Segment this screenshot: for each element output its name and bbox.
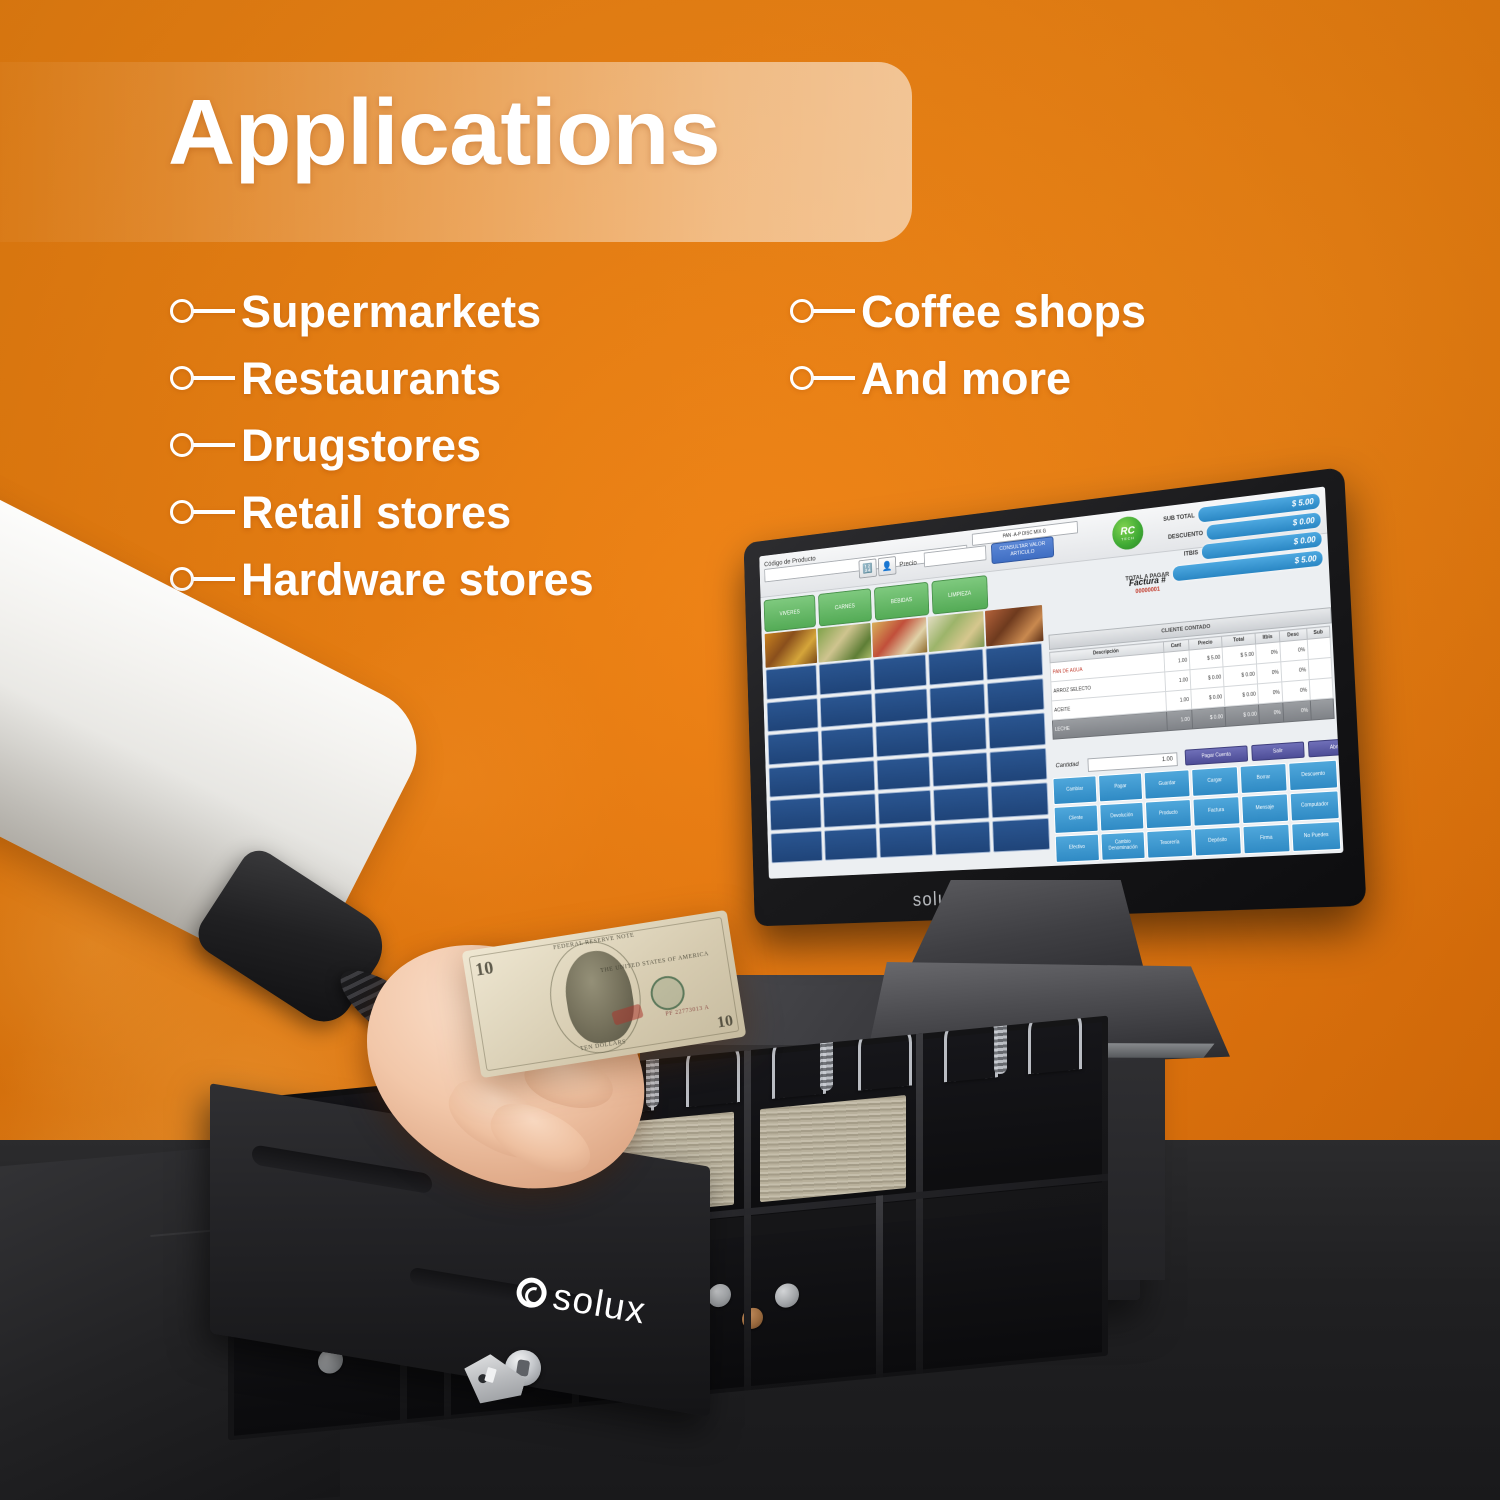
product-cell[interactable] (820, 693, 873, 728)
bullet-marker-icon (170, 299, 235, 323)
bullet-marker-icon (170, 366, 235, 390)
monitor-screen[interactable]: Código de Producto PAN -A-P DISC MIX G 🔢… (759, 486, 1343, 878)
cell-itbis: 0% (1257, 662, 1282, 684)
key-guardar[interactable]: Guardar (1144, 769, 1191, 799)
key-no-puedes[interactable]: No Puedes (1291, 821, 1341, 852)
product-cell[interactable] (929, 649, 985, 685)
product-cell[interactable] (930, 683, 986, 719)
tab-limpieza[interactable]: LIMPIEZA (931, 575, 988, 614)
page-title: Applications (168, 86, 720, 179)
product-cell[interactable] (875, 722, 929, 757)
product-cell[interactable] (992, 817, 1050, 852)
product-cell[interactable] (822, 760, 875, 794)
cell-desc: 0% (1280, 639, 1308, 662)
cell-total: $ 0.00 (1224, 684, 1259, 707)
calculator-icon[interactable]: 🔢 (859, 558, 877, 578)
product-cell[interactable] (766, 665, 817, 700)
key-cambiar[interactable]: Cambiar (1053, 775, 1098, 805)
bill-clip (1028, 1016, 1082, 1075)
cell-desc: 0% (1281, 659, 1309, 681)
key-computador[interactable]: Computador (1290, 790, 1340, 821)
bullet-marker-icon (170, 567, 235, 591)
list-item-label: Supermarkets (241, 289, 541, 334)
cell-cant: 1.00 (1164, 670, 1190, 692)
key-efectivo[interactable]: Efectivo (1055, 834, 1100, 863)
product-cell[interactable] (877, 790, 932, 824)
key-cargar[interactable]: Cargar (1191, 766, 1239, 797)
key-descuento[interactable]: Descuento (1288, 760, 1338, 791)
swirl-logo-icon (514, 1275, 549, 1310)
product-cell[interactable] (824, 827, 877, 861)
product-button-grid[interactable] (766, 643, 1050, 863)
key-deposito[interactable]: Depósito (1194, 826, 1242, 856)
product-cell[interactable] (990, 747, 1048, 783)
thumb-salads[interactable] (928, 611, 985, 652)
product-cell[interactable] (769, 764, 821, 798)
quantity-input[interactable]: 1.00 (1087, 752, 1177, 772)
thumb-produce[interactable] (765, 629, 817, 668)
list-item-label: Retail stores (241, 490, 511, 535)
bullet-marker-icon (170, 500, 235, 524)
coin-bin (882, 1203, 1102, 1374)
product-cell[interactable] (873, 654, 927, 690)
list-item: Supermarkets (170, 288, 594, 334)
product-cell[interactable] (821, 726, 874, 761)
product-cell[interactable] (876, 756, 931, 791)
cell-itbis: 0% (1258, 682, 1283, 704)
cell-precio: $ 0.00 (1192, 707, 1226, 729)
total-label: TOTAL A PAGAR (1125, 572, 1169, 583)
cell-sub (1308, 657, 1332, 679)
product-cell[interactable] (879, 824, 934, 858)
cell-sub (1310, 698, 1334, 720)
list-item-label: Hardware stores (241, 557, 594, 602)
product-cell[interactable] (988, 713, 1046, 749)
key-tesoreria[interactable]: Tesorería (1147, 829, 1194, 859)
key-cliente[interactable]: Cliente (1054, 804, 1099, 834)
key-mensaje[interactable]: Mensaje (1241, 793, 1290, 824)
product-cell[interactable] (935, 821, 991, 856)
drawer-vent-groove (252, 1144, 432, 1194)
key-borrar[interactable]: Borrar (1239, 763, 1288, 794)
product-cell[interactable] (933, 786, 989, 821)
key-producto[interactable]: Producto (1145, 799, 1192, 829)
key-devolucion[interactable]: Devolución (1099, 802, 1145, 832)
key-factura[interactable]: Factura (1192, 796, 1240, 827)
cell-cant: 1.00 (1163, 650, 1189, 672)
quantity-label: Cantidad (1055, 761, 1078, 769)
cell-itbis: 0% (1256, 642, 1281, 664)
list-item-label: Drugstores (241, 423, 481, 468)
cell-cant: 1.00 (1166, 709, 1192, 731)
cell-sub (1309, 678, 1333, 700)
cell-total: $ 0.00 (1225, 704, 1260, 727)
subtotal-label: SUB TOTAL (1163, 513, 1195, 523)
product-cell[interactable] (767, 698, 819, 732)
user-icon[interactable]: 👤 (878, 556, 897, 576)
pos-monitor: Código de Producto PAN -A-P DISC MIX G 🔢… (744, 467, 1367, 926)
key-pagar[interactable]: Pagar (1098, 772, 1144, 802)
pay-account-button[interactable]: Pagar Cuenta (1185, 745, 1248, 765)
key-firma[interactable]: Firma (1242, 824, 1291, 855)
bullet-marker-icon (790, 366, 855, 390)
product-cell[interactable] (987, 678, 1044, 714)
itbis-label: ITBIS (1184, 550, 1199, 557)
thumb-grains[interactable] (985, 605, 1044, 647)
product-cell[interactable] (932, 752, 988, 787)
thumb-snacks[interactable] (872, 617, 927, 657)
list-item-label: And more (861, 356, 1071, 401)
clip-spring (820, 1034, 833, 1091)
product-cell[interactable] (770, 797, 822, 830)
product-cell[interactable] (874, 688, 928, 723)
product-cell[interactable] (768, 731, 820, 765)
denomination-top-left: 10 (474, 957, 495, 981)
list-item: Retail stores (170, 489, 594, 535)
applications-list-right: Coffee shops And more (790, 288, 1146, 401)
cell-desc: 0% (1283, 700, 1311, 722)
exit-button[interactable]: Salir (1251, 741, 1305, 761)
clip-spring (994, 1017, 1007, 1074)
thumb-vegetables[interactable] (818, 623, 872, 663)
bullet-marker-icon (170, 433, 235, 457)
tab-bebidas[interactable]: BEBIDAS (874, 582, 929, 621)
cell-precio: $ 0.00 (1191, 687, 1225, 709)
product-marketing-image: Applications Supermarkets Restaurants Dr… (0, 0, 1500, 1500)
cell-sub (1307, 637, 1331, 659)
list-item: Drugstores (170, 422, 594, 468)
discount-label: DESCUENTO (1168, 531, 1203, 541)
list-item-label: Restaurants (241, 356, 501, 401)
key-cambio-denominacion[interactable]: Cambio Denominación (1100, 831, 1146, 861)
cell-desc: 0% (1282, 680, 1310, 702)
applications-list-left: Supermarkets Restaurants Drugstores Reta… (170, 288, 594, 602)
product-cell[interactable] (771, 830, 823, 863)
clip-spring (646, 1051, 659, 1108)
tab-viveres[interactable]: VIVERES (764, 594, 816, 632)
pos-application[interactable]: Código de Producto PAN -A-P DISC MIX G 🔢… (759, 486, 1343, 878)
list-item-label: Coffee shops (861, 289, 1146, 334)
cell-cant: 1.00 (1165, 689, 1191, 711)
tab-carnes[interactable]: CARNES (818, 588, 872, 626)
list-item: Coffee shops (790, 288, 1146, 334)
product-cell[interactable] (991, 782, 1049, 817)
list-item: Restaurants (170, 355, 594, 401)
function-keypad[interactable]: Cambiar Pagar Guardar Cargar Borrar Desc… (1053, 760, 1342, 863)
product-cell[interactable] (819, 660, 872, 695)
product-cell[interactable] (986, 643, 1043, 680)
cell-itbis: 0% (1259, 702, 1284, 724)
denomination-bottom-right: 10 (716, 1013, 735, 1033)
product-cell[interactable] (823, 793, 876, 827)
list-item: Hardware stores (170, 556, 594, 602)
product-cell[interactable] (931, 717, 987, 753)
list-item: And more (790, 355, 1146, 401)
bullet-marker-icon (790, 299, 855, 323)
